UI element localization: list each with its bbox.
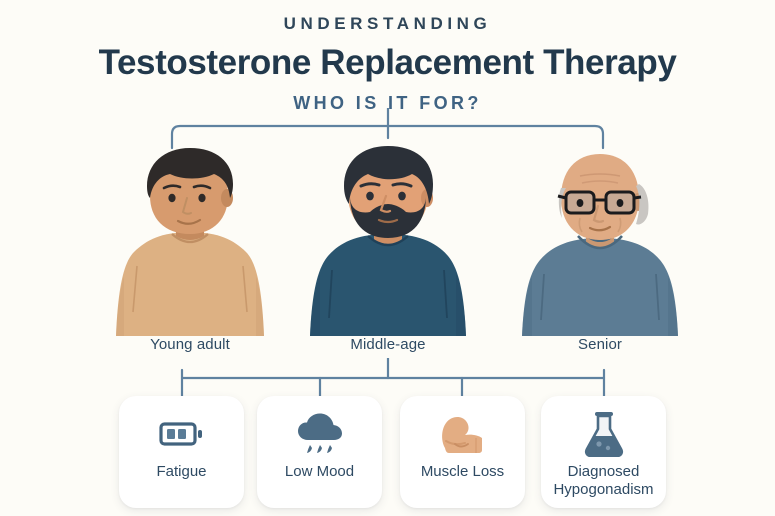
card-low-mood[interactable]: Low Mood [257,396,382,508]
senior-illustration [500,140,700,336]
card-muscle-loss[interactable]: Muscle Loss [400,396,525,508]
person-middle-age: Middle-age [288,140,488,365]
eyebrow-text: Understanding [0,14,775,34]
young-adult-illustration [90,140,290,336]
symptom-cards-row: Fatigue Low Mood [0,396,775,516]
infographic-canvas: Understanding Testosterone Replacement T… [0,0,775,516]
young-adult-svg [90,140,290,336]
age-label-senior: Senior [500,336,700,353]
rain-cloud-icon [296,412,344,456]
middle-age-svg [288,140,488,336]
card-label-muscle-loss: Muscle Loss [388,463,538,481]
card-label-fatigue: Fatigue [107,463,257,481]
age-label-middle-age: Middle-age [288,336,488,353]
middle-age-illustration [288,140,488,336]
card-label-diagnosed-hypogonadism: Diagnosed Hypogonadism [529,463,679,498]
person-young-adult: Young adult [90,140,290,365]
senior-svg [500,140,700,336]
flask-icon [583,412,625,456]
card-diagnosed-hypogonadism[interactable]: Diagnosed Hypogonadism [541,396,666,508]
people-row: Young adult [0,140,775,365]
subtitle-text: Who is it for? [0,93,775,115]
battery-icon [159,412,205,456]
age-label-young-adult: Young adult [90,336,290,353]
card-label-low-mood: Low Mood [245,463,395,481]
page-title: Testosterone Replacement Therapy [0,43,775,82]
flexed-bicep-icon [438,412,488,456]
header: Understanding Testosterone Replacement T… [0,0,775,114]
card-fatigue[interactable]: Fatigue [119,396,244,508]
person-senior: Senior [500,140,700,365]
